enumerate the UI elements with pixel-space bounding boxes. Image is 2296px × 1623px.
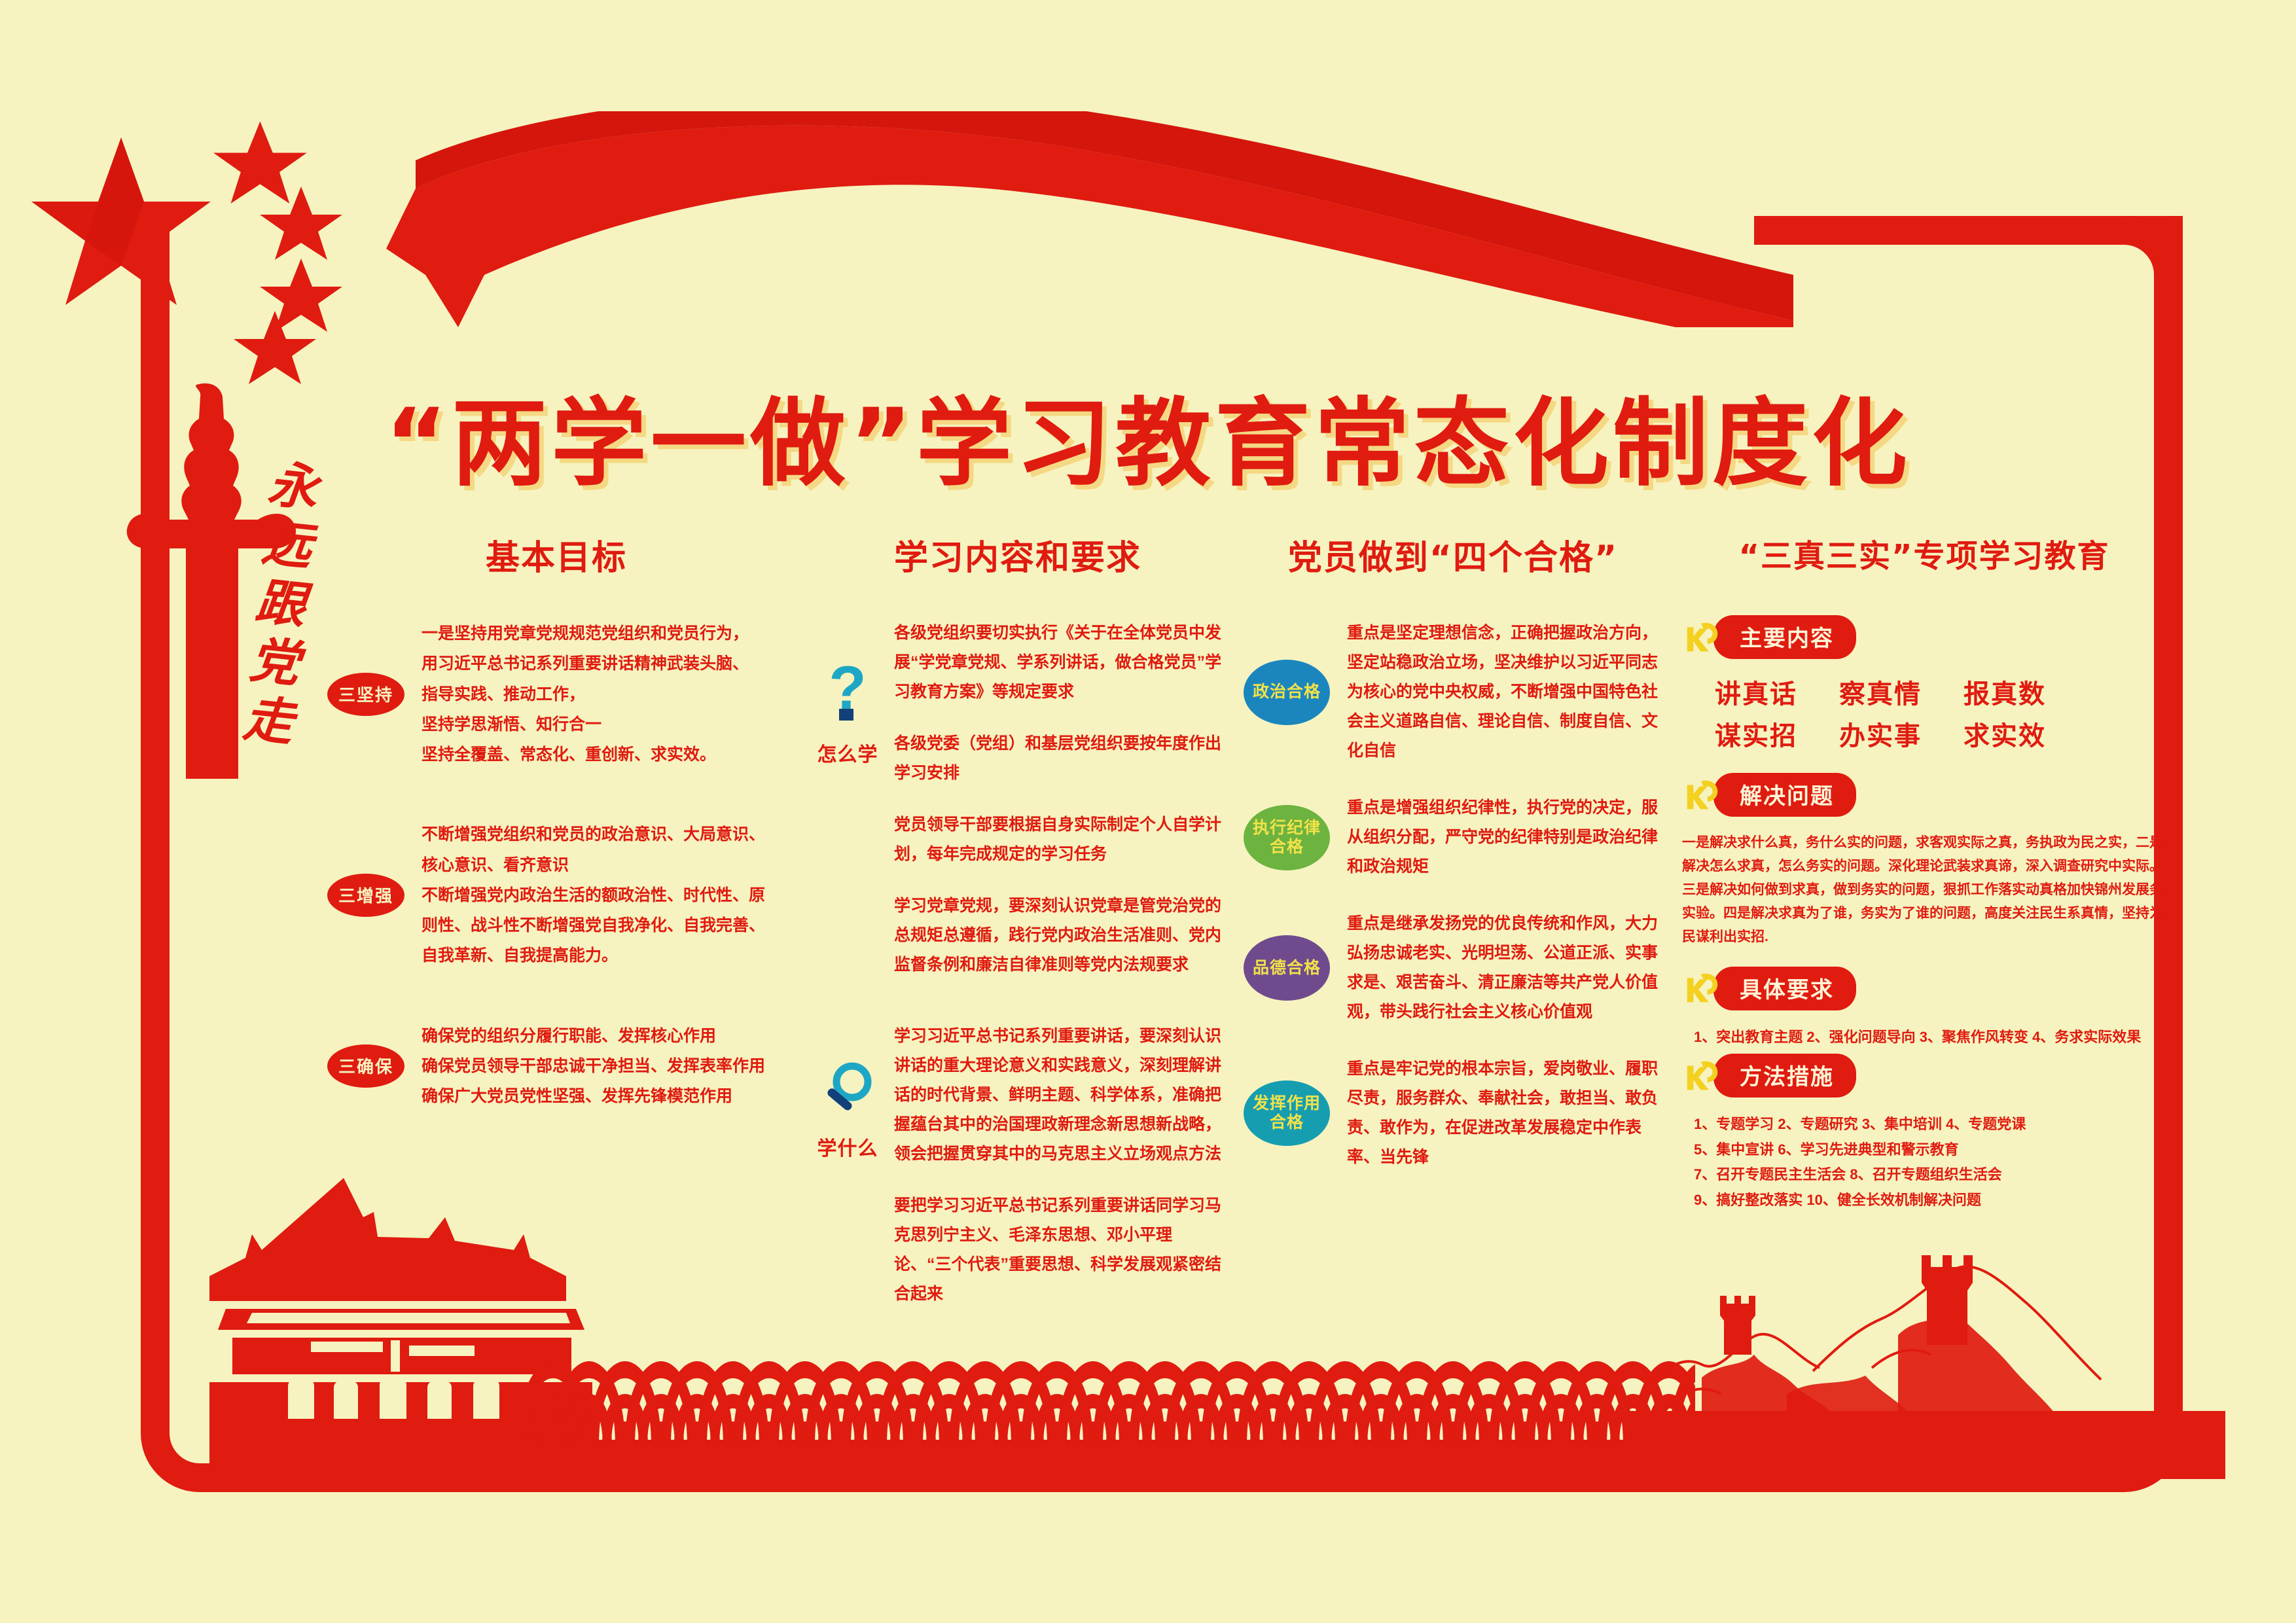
- goal-block: 三坚持 一是坚持用党章党规规范党组织和党员行为， 用习近平总书记系列重要讲话精神…: [327, 618, 785, 770]
- magnifier-icon-group: 学什么: [812, 1022, 884, 1161]
- qualification-row: 品德合格 重点是继承发扬党的优良传统和作风，大力弘扬忠诚老实、光明坦荡、公道正派…: [1244, 909, 1662, 1027]
- list-item: 1、突出教育主题 2、强化问题导向 3、聚焦作风转变 4、务求实际效果: [1694, 1025, 2166, 1050]
- keyword: 察真情: [1839, 673, 1964, 715]
- study-howto-block: ? 怎么学 各级党组织要切实执行《关于在全体党员中发展“学党章党规、学系列讲话，…: [812, 618, 1224, 1002]
- qualification-row: 执行纪律 合格 重点是增强组织纪律性，执行党的决定，服从组织分配，严守党的纪律特…: [1244, 793, 1662, 882]
- qualification-badge: 政治合格: [1244, 660, 1330, 725]
- qualification-row: 发挥作用 合格 重点是牢记党的根本宗旨，爱岗敬业、履职尽责，服务群众、奉献社会，…: [1244, 1054, 1662, 1172]
- study-what-block: 学什么 学习习近平总书记系列重要讲话，要深刻认识讲话的重大理论意义和实践意义，深…: [812, 1022, 1224, 1331]
- goal-line: 不断增强党内政治生活的额政治性、时代性、原: [422, 880, 765, 910]
- qualification-row: 政治合格 重点是坚定理想信念，正确把握政治方向，坚定站稳政治立场，坚决维护以习近…: [1244, 618, 1662, 766]
- tag-main-content: 主要内容: [1713, 615, 1856, 659]
- column-three-truths: “三真三实”专项学习教育 主要内容 讲真话察真情报真数 谋实招办实事求实效: [1682, 530, 2166, 1213]
- column-title-basic-goals: 基本目标: [327, 530, 785, 579]
- qualification-text: 重点是坚定理想信念，正确把握政治方向，坚定站稳政治立场，坚决维护以习近平同志为核…: [1347, 618, 1662, 766]
- paragraph: 各级党委（党组）和基层党组织要按年度作出学习安排: [894, 729, 1224, 788]
- qualification-text: 重点是继承发扬党的优良传统和作风，大力弘扬忠诚老实、光明坦荡、公道正派、实事求是…: [1347, 909, 1662, 1027]
- section-header-solve-problems: 解决问题: [1682, 773, 2166, 817]
- pill-badge: 三增强: [327, 874, 404, 917]
- poster-canvas: 永远跟党走 “两学一做”学习教育常态化制度化: [0, 0, 2296, 1623]
- column-title-four-qualifications: 党员做到“四个合格”: [1244, 530, 1662, 579]
- tag-specific-requirements: 具体要求: [1713, 967, 1856, 1010]
- magnifier-icon: [819, 1061, 876, 1124]
- goal-line: 则性、战斗性不断增强党自我净化、自我完善、: [422, 910, 765, 940]
- study-howto-paragraphs: 各级党组织要切实执行《关于在全体党员中发展“学党章党规、学系列讲话，做合格党员”…: [894, 618, 1224, 1002]
- badge-line-2: 合格: [1270, 1113, 1304, 1132]
- list-item: 7、召开专题民主生活会 8、召开专题组织生活会: [1694, 1162, 2166, 1188]
- question-mark-icon: ?: [819, 658, 876, 730]
- keyword: 办实事: [1839, 715, 1964, 757]
- badge-line-2: 合格: [1270, 838, 1304, 857]
- keyword: 讲真话: [1715, 673, 1839, 715]
- cloud-wave-border: [517, 1348, 1695, 1472]
- section-header-specific-requirements: 具体要求: [1682, 967, 2166, 1010]
- goal-block: 三确保 确保党的组织分履行职能、发挥核心作用 确保党员领导干部忠诚干净担当、发挥…: [327, 1021, 785, 1112]
- column-title-study-content: 学习内容和要求: [812, 530, 1224, 579]
- badge-line-1: 执行纪律: [1253, 819, 1321, 838]
- frame-top-right-arm: [1754, 216, 2183, 245]
- tag-solve-problems: 解决问题: [1713, 773, 1856, 817]
- paragraph: 各级党组织要切实执行《关于在全体党员中发展“学党章党规、学系列讲话，做合格党员”…: [894, 618, 1224, 707]
- specific-requirements-list: 1、突出教育主题 2、强化问题导向 3、聚焦作风转变 4、务求实际效果: [1682, 1025, 2166, 1050]
- party-emblem-icon: [1682, 617, 1723, 658]
- howto-label: 怎么学: [812, 738, 884, 767]
- methods-list: 1、专题学习 2、专题研究 3、集中培训 4、专题党课 5、集中宣讲 6、学习先…: [1682, 1112, 2166, 1213]
- keyword: 求实效: [1964, 715, 2088, 757]
- goal-line: 指导实践、推动工作，: [422, 679, 749, 709]
- paragraph: 学习习近平总书记系列重要讲话，要深刻认识讲话的重大理论意义和实践意义，深刻理解讲…: [894, 1022, 1224, 1169]
- paragraph: 党员领导干部要根据自身实际制定个人自学计划，每年完成规定的学习任务: [894, 810, 1224, 869]
- paragraph: 学习党章党规，要深刻认识党章是管党治党的总规矩总遵循，践行党内政治生活准则、党内…: [894, 891, 1224, 980]
- party-emblem-icon: [1682, 1056, 1723, 1096]
- column-title-three-truths: “三真三实”专项学习教育: [1682, 530, 2166, 576]
- party-emblem-icon: [1682, 968, 1723, 1008]
- qualification-text: 重点是牢记党的根本宗旨，爱岗敬业、履职尽责，服务群众、奉献社会，敢担当、敢负责、…: [1347, 1054, 1662, 1172]
- qualification-badge: 品德合格: [1244, 935, 1330, 1001]
- party-emblem-icon: [1682, 775, 1723, 815]
- page-title: “两学一做”学习教育常态化制度化: [0, 366, 2296, 505]
- column-study-content: 学习内容和要求 ? 怎么学 各级党组织要切实执行《关于在全体党员中发展“学党章党…: [812, 530, 1224, 1351]
- solve-problems-body: 一是解决求什么真，务什么实的问题，求客观实际之真，务执政为民之实，二是解决怎么求…: [1682, 831, 2166, 950]
- goal-line: 确保党的组织分履行职能、发挥核心作用: [422, 1021, 765, 1051]
- study-what-paragraphs: 学习习近平总书记系列重要讲话，要深刻认识讲话的重大理论意义和实践意义，深刻理解讲…: [894, 1022, 1224, 1331]
- goal-line: 一是坚持用党章党规规范党组织和党员行为，: [422, 618, 749, 649]
- goal-text: 不断增强党组织和党员的政治意识、大局意识、 核心意识、看齐意识 不断增强党内政治…: [422, 819, 765, 971]
- goal-line: 核心意识、看齐意识: [422, 850, 765, 880]
- goal-line: 用习近平总书记系列重要讲话精神武装头脑、: [422, 649, 749, 679]
- column-four-qualifications: 党员做到“四个合格” 政治合格 重点是坚定理想信念，正确把握政治方向，坚定站稳政…: [1244, 530, 1662, 1200]
- red-ribbon-banner: [380, 111, 1793, 327]
- qualification-badge: 执行纪律 合格: [1244, 805, 1330, 870]
- pill-badge: 三确保: [327, 1044, 404, 1088]
- goal-block: 三增强 不断增强党组织和党员的政治意识、大局意识、 核心意识、看齐意识 不断增强…: [327, 819, 785, 971]
- section-header-main-content: 主要内容: [1682, 615, 2166, 659]
- pill-badge: 三坚持: [327, 673, 404, 716]
- goal-line: 确保广大党员党性坚强、发挥先锋模范作用: [422, 1081, 765, 1111]
- badge-line-1: 品德合格: [1253, 959, 1321, 978]
- goal-line: 不断增强党组织和党员的政治意识、大局意识、: [422, 819, 765, 849]
- list-item: 1、专题学习 2、专题研究 3、集中培训 4、专题党课: [1694, 1112, 2166, 1137]
- keyword: 报真数: [1964, 673, 2088, 715]
- badge-line-1: 发挥作用: [1253, 1094, 1321, 1113]
- content-columns: 基本目标 三坚持 一是坚持用党章党规规范党组织和党员行为， 用习近平总书记系列重…: [327, 530, 2212, 1348]
- tag-methods: 方法措施: [1713, 1054, 1856, 1097]
- badge-line-1: 政治合格: [1253, 683, 1321, 702]
- qualification-text: 重点是增强组织纪律性，执行党的决定，服从组织分配，严守党的纪律特别是政治纪律和政…: [1347, 793, 1662, 882]
- paragraph: 要把学习习近平总书记系列重要讲话同学习马克思列宁主义、毛泽东思想、邓小平理论、“…: [894, 1191, 1224, 1309]
- list-item: 9、搞好整改落实 10、健全长效机制解决问题: [1694, 1188, 2166, 1213]
- what-label: 学什么: [812, 1132, 884, 1161]
- goal-text: 一是坚持用党章党规规范党组织和党员行为， 用习近平总书记系列重要讲话精神武装头脑…: [422, 618, 749, 770]
- qualification-badge: 发挥作用 合格: [1244, 1080, 1330, 1146]
- goal-line: 坚持学思渐悟、知行合一: [422, 709, 749, 740]
- keywords-row: 讲真话察真情报真数 谋实招办实事求实效: [1682, 673, 2166, 757]
- list-item: 5、集中宣讲 6、学习先进典型和警示教育: [1694, 1137, 2166, 1163]
- goal-text: 确保党的组织分履行职能、发挥核心作用 确保党员领导干部忠诚干净担当、发挥表率作用…: [422, 1021, 765, 1112]
- keyword: 谋实招: [1715, 715, 1839, 757]
- question-mark-icon-group: ? 怎么学: [812, 618, 884, 767]
- column-basic-goals: 基本目标 三坚持 一是坚持用党章党规规范党组织和党员行为， 用习近平总书记系列重…: [327, 530, 785, 1161]
- section-header-methods: 方法措施: [1682, 1054, 2166, 1097]
- goal-line: 自我革新、自我提高能力。: [422, 940, 765, 971]
- goal-line: 确保党员领导干部忠诚干净担当、发挥表率作用: [422, 1051, 765, 1081]
- five-pointed-stars: [20, 111, 386, 393]
- goal-line: 坚持全覆盖、常态化、重创新、求实效。: [422, 740, 749, 770]
